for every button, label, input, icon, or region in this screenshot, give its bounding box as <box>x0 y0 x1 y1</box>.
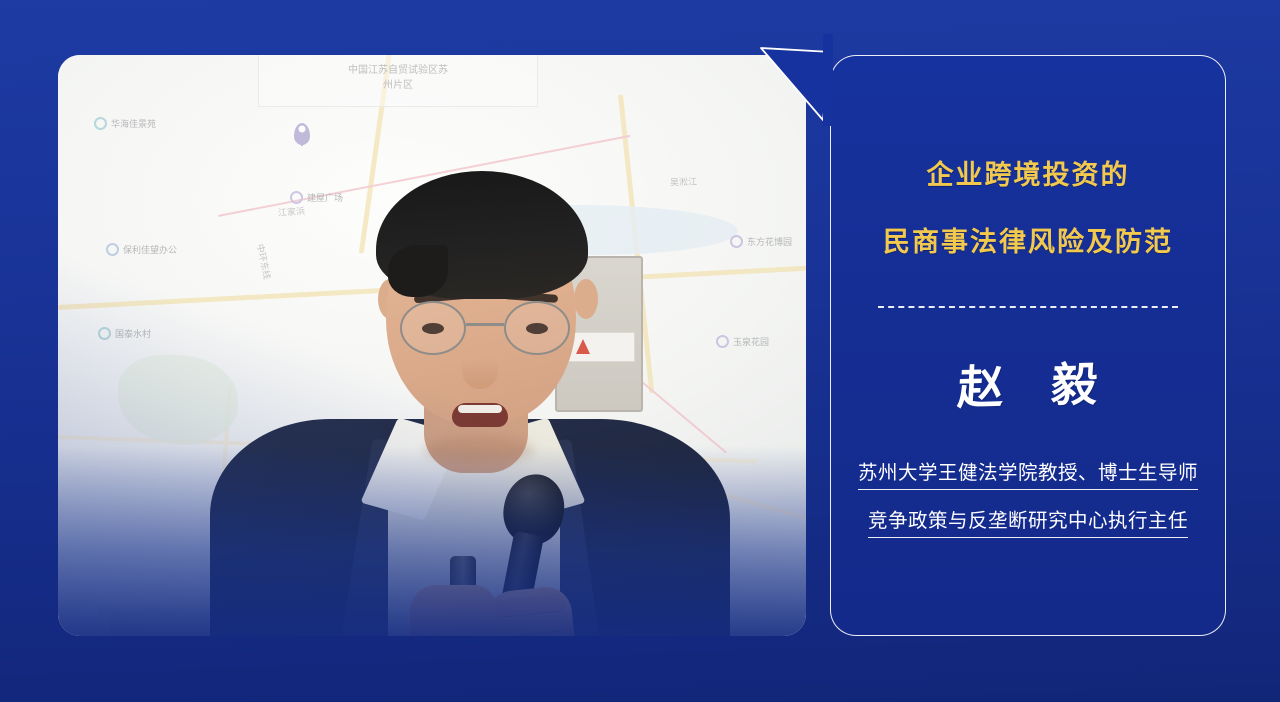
session-title-line2: 民商事法律风险及防范 <box>883 229 1173 256</box>
speaker-role-2: 竞争政策与反垄断研究中心执行主任 <box>868 504 1188 538</box>
callout-pointer <box>761 0 833 122</box>
photo-bottom-fade <box>58 446 806 636</box>
session-title-line1: 企业跨境投资的 <box>927 162 1130 189</box>
speaker-info-panel: 企业跨境投资的 民商事法律风险及防范 赵 毅 苏州大学王健法学院教授、博士生导师… <box>830 55 1226 636</box>
speaker-photo: 中国江苏自贸试验区苏 州片区 华海佳景苑 保利佳望办公 国泰水村 建屋广场 东方… <box>58 55 806 636</box>
speaker-name: 赵 毅 <box>938 348 1118 419</box>
speaker-roles: 苏州大学王健法学院教授、博士生导师 竞争政策与反垄断研究中心执行主任 <box>831 456 1225 538</box>
speaker-role-1: 苏州大学王健法学院教授、博士生导师 <box>858 456 1198 490</box>
dashed-divider <box>878 306 1178 308</box>
